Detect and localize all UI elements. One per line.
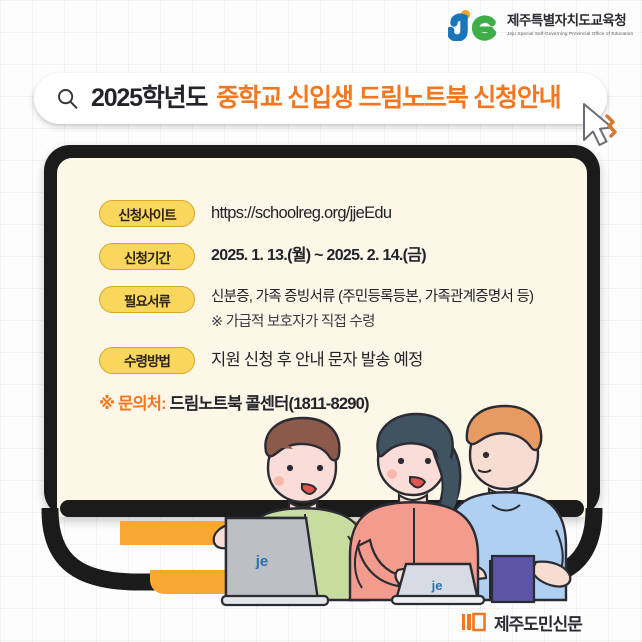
value-delivery: 지원 신청 후 안내 문자 발송 예정	[211, 349, 423, 371]
contact-value: 드림노트북 콜센터(1811-8290)	[170, 395, 369, 413]
laptop-base-shadow-orange	[150, 570, 498, 594]
contact-prefix: ※ 문의처:	[99, 395, 166, 413]
footer-brand: 제주도민신문	[462, 608, 582, 636]
search-icon	[56, 87, 79, 110]
footer-title: 제주도민신문	[494, 610, 582, 635]
info-row-delivery: 수령방법 지원 신청 후 안내 문자 발송 예정	[99, 347, 587, 374]
brand-text-block: 제주특별자치도교육청 Jeju Special Self-Governing P…	[507, 14, 631, 36]
value-site[interactable]: https://schoolreg.org/jjeEdu	[211, 202, 391, 224]
brand-header: 제주특별자치도교육청 Jeju Special Self-Governing P…	[448, 4, 638, 46]
value-period: 2025. 1. 13.(월) ~ 2025. 2. 14.(금)	[211, 245, 426, 267]
info-content: 신청사이트 https://schoolreg.org/jjeEdu 신청기간 …	[57, 158, 587, 517]
title-year: 2025학년도	[91, 86, 207, 111]
info-row-period-body: 2025. 1. 13.(월) ~ 2025. 2. 14.(금)	[211, 243, 426, 267]
contact-line: ※ 문의처: 드림노트북 콜센터(1811-8290)	[99, 390, 587, 414]
info-row-site-body: https://schoolreg.org/jjeEdu	[211, 200, 391, 224]
laptop-illustration: 신청사이트 https://schoolreg.org/jjeEdu 신청기간 …	[44, 145, 600, 517]
info-row-delivery-body: 지원 신청 후 안내 문자 발송 예정	[211, 347, 423, 371]
label-pill-delivery: 수령방법	[99, 347, 195, 374]
note-documents: ※ 가급적 보호자가 직접 수령	[211, 310, 533, 331]
title-search-bar[interactable]: 2025학년도 중학교 신입생 드림노트북 신청안내	[34, 73, 607, 124]
info-row-documents: 필요서류 신분증, 가족 증빙서류 (주민등록등본, 가족관계증명서 등) ※ …	[99, 286, 587, 331]
info-row-documents-body: 신분증, 가족 증빙서류 (주민등록등본, 가족관계증명서 등) ※ 가급적 보…	[211, 286, 533, 331]
brand-title: 제주특별자치도교육청	[507, 14, 631, 29]
info-row-site: 신청사이트 https://schoolreg.org/jjeEdu	[99, 200, 587, 227]
label-pill-documents: 필요서류	[99, 286, 195, 313]
title-headline: 중학교 신입생 드림노트북 신청안내	[216, 86, 560, 111]
poster-canvas: 제주특별자치도교육청 Jeju Special Self-Governing P…	[0, 0, 642, 642]
info-row-period: 신청기간 2025. 1. 13.(월) ~ 2025. 2. 14.(금)	[99, 243, 587, 270]
je-logo-icon	[448, 9, 500, 41]
laptop-screen: 신청사이트 https://schoolreg.org/jjeEdu 신청기간 …	[57, 158, 587, 517]
mouse-cursor-icon	[578, 100, 624, 152]
brand-subtitle: Jeju Special Self-Governing Provincial O…	[507, 31, 633, 36]
label-pill-site: 신청사이트	[99, 200, 195, 227]
value-documents: 신분증, 가족 증빙서류 (주민등록등본, 가족관계증명서 등)	[211, 288, 533, 308]
newspaper-logo-icon	[462, 612, 486, 632]
label-pill-period: 신청기간	[99, 243, 195, 270]
page-title: 2025학년도 중학교 신입생 드림노트북 신청안내	[91, 86, 560, 111]
